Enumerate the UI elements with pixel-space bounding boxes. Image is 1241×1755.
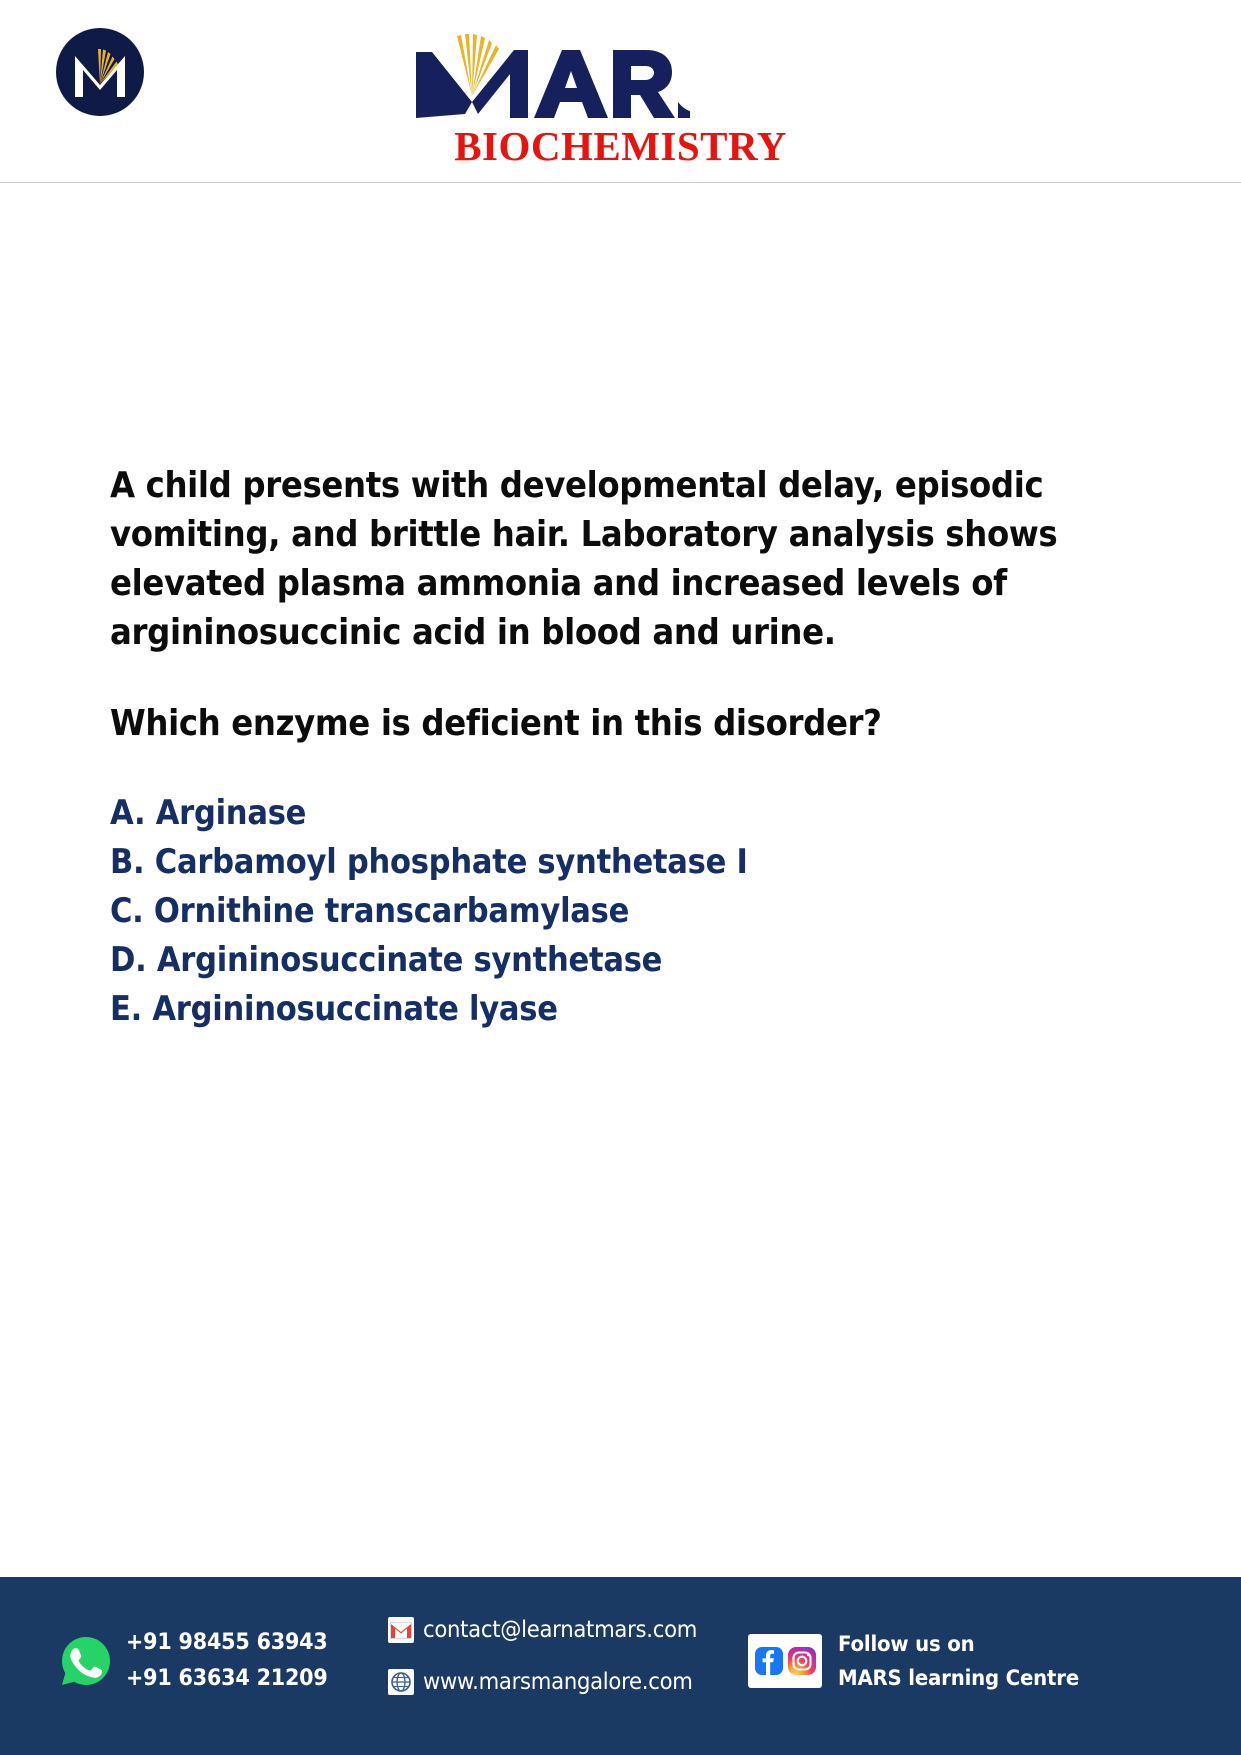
page-header: BIOCHEMISTRY — [0, 0, 1241, 183]
globe-icon — [388, 1669, 414, 1695]
website-row[interactable]: www.marsmangalore.com — [388, 1669, 721, 1695]
instagram-icon — [787, 1646, 817, 1676]
follow-text: Follow us on MARS learning Centre — [838, 1627, 1094, 1695]
answer-options-list: A. Arginase B. Carbamoyl phosphate synth… — [110, 789, 1120, 1034]
question-stem: A child presents with developmental dela… — [110, 462, 1120, 658]
answer-option-e[interactable]: E. Argininosuccinate lyase — [110, 985, 1120, 1034]
page-footer: +91 98455 63943 +91 63634 21209 conta — [0, 1577, 1241, 1755]
question-prompt: Which enzyme is deficient in this disord… — [110, 700, 1120, 749]
social-icons-tile — [748, 1634, 822, 1688]
phone-numbers: +91 98455 63943 +91 63634 21209 — [126, 1625, 340, 1696]
follow-us-label: Follow us on — [838, 1627, 1079, 1661]
answer-option-a[interactable]: A. Arginase — [110, 789, 1120, 838]
email-row[interactable]: contact@learnatmars.com — [388, 1617, 721, 1643]
question-block: A child presents with developmental dela… — [110, 462, 1120, 1034]
footer-contact-phone: +91 98455 63943 +91 63634 21209 — [60, 1625, 340, 1696]
answer-option-d[interactable]: D. Argininosuccinate synthetase — [110, 936, 1120, 985]
poster-page: BIOCHEMISTRY A child presents with devel… — [0, 0, 1241, 1755]
facebook-icon — [754, 1646, 784, 1676]
answer-option-c[interactable]: C. Ornithine transcarbamylase — [110, 887, 1120, 936]
mars-circle-logo-icon — [55, 27, 145, 117]
mars-wordmark — [410, 26, 690, 122]
gmail-icon — [388, 1617, 414, 1643]
footer-contact-web: contact@learnatmars.com w — [388, 1617, 721, 1695]
subject-title: BIOCHEMISTRY — [0, 126, 1241, 167]
website-url[interactable]: www.marsmangalore.com — [423, 1669, 693, 1695]
phone-number-1[interactable]: +91 98455 63943 — [126, 1625, 328, 1661]
centre-name-label: MARS learning Centre — [838, 1661, 1079, 1695]
phone-number-2[interactable]: +91 63634 21209 — [126, 1661, 328, 1697]
footer-social: Follow us on MARS learning Centre — [748, 1627, 1094, 1695]
answer-option-b[interactable]: B. Carbamoyl phosphate synthetase I — [110, 838, 1120, 887]
whatsapp-icon[interactable] — [60, 1635, 112, 1687]
email-address[interactable]: contact@learnatmars.com — [423, 1617, 697, 1643]
